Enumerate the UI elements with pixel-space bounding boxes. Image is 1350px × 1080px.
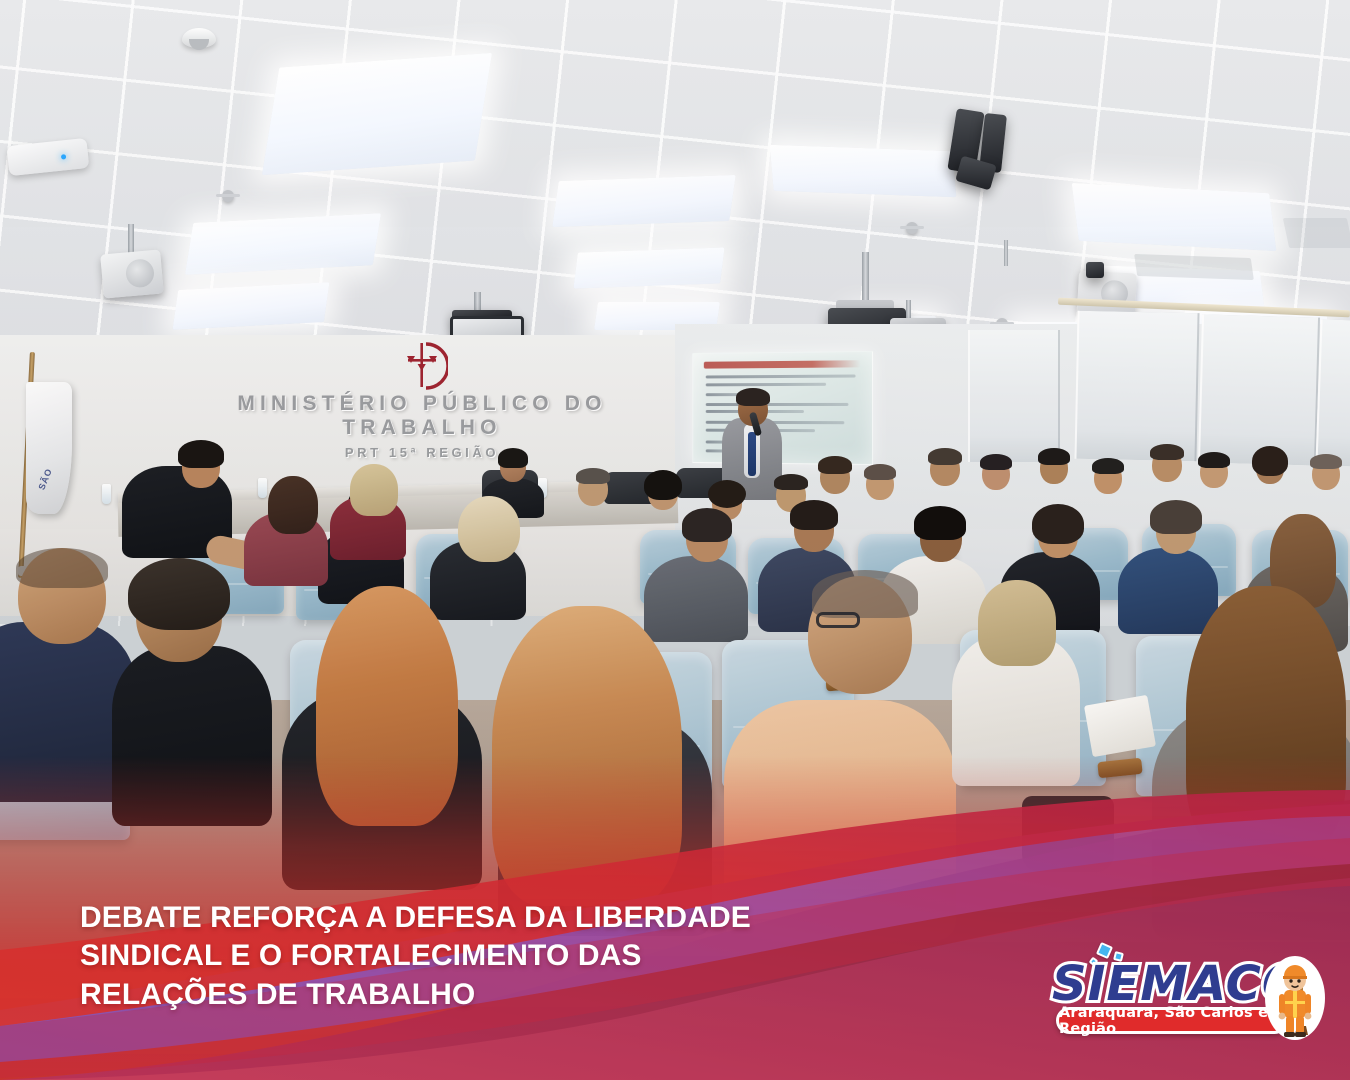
mascot-worker-icon <box>1264 954 1326 1040</box>
event-banner-image: MINISTÉRIO PÚBLICO DO TRABALHO PRT 15ª R… <box>0 0 1350 1080</box>
headline-line-1: DEBATE REFORÇA A DEFESA DA LIBERDADE <box>80 899 780 937</box>
headline-line-2: SINDICAL E O FORTALECIMENTO DAS <box>80 937 780 975</box>
logo-region-text: Araraquara, São Carlos e Região <box>1059 1010 1285 1031</box>
siemaco-logo[interactable]: SIEMACO Araraquara, São Carlos e Região <box>1052 948 1322 1044</box>
headline-line-3: RELAÇÕES DE TRABALHO <box>80 976 780 1014</box>
logo-region-banner: Araraquara, São Carlos e Região <box>1056 1007 1288 1034</box>
headline: DEBATE REFORÇA A DEFESA DA LIBERDADE SIN… <box>80 899 780 1014</box>
